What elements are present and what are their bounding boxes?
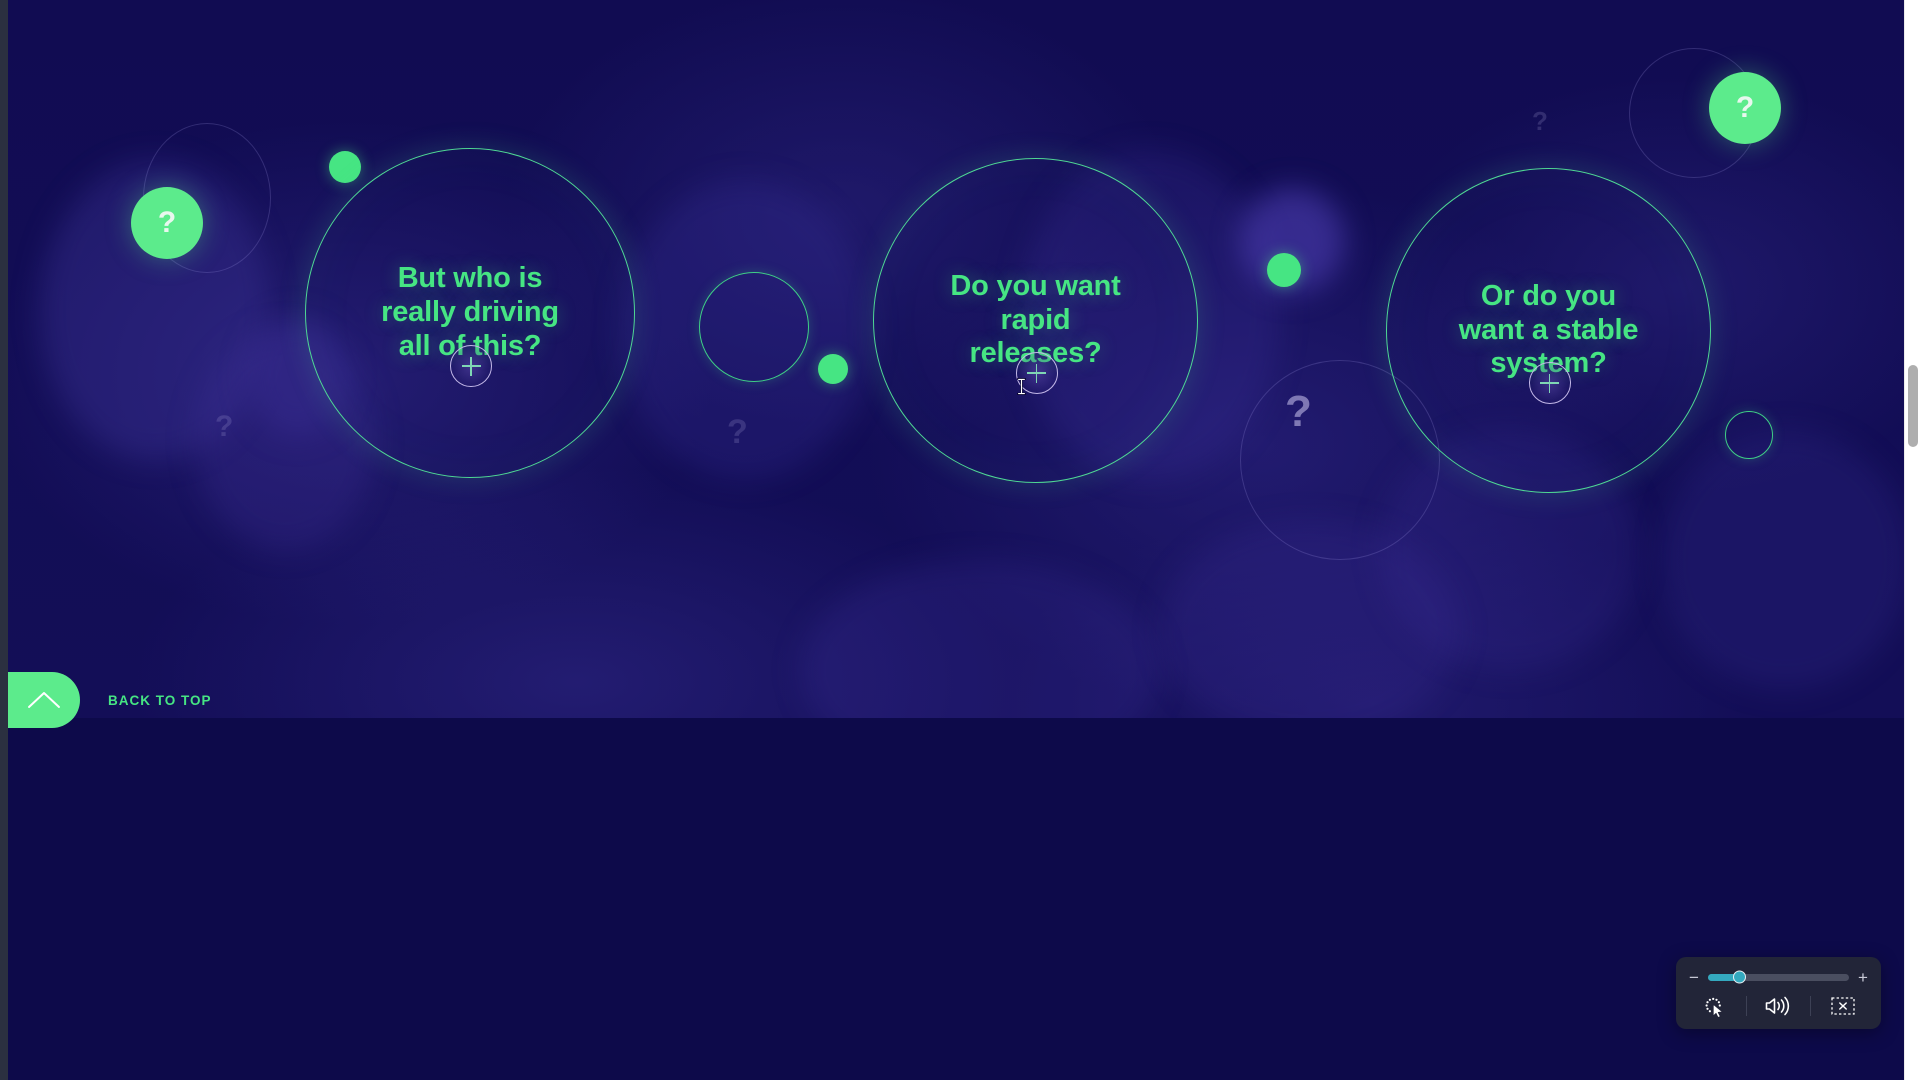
background-blob xyxy=(800,560,1160,718)
decorative-question-mark: ? xyxy=(1532,108,1548,134)
background-blob xyxy=(1160,520,1460,718)
bubble-rapid-releases[interactable]: Do you want rapid releases? xyxy=(873,158,1198,483)
q-badge-right[interactable]: ? xyxy=(1709,72,1781,144)
increase-button[interactable]: + xyxy=(1857,969,1869,986)
cursor-highlight-icon xyxy=(1702,994,1726,1018)
back-to-top[interactable]: BACK TO TOP xyxy=(8,672,212,728)
volume-icon xyxy=(1765,995,1791,1017)
bubble-who-is-driving[interactable]: But who is really driving all of this? xyxy=(305,148,635,478)
close-box-icon xyxy=(1830,995,1856,1017)
bubble-expand-button[interactable] xyxy=(1016,352,1058,394)
back-to-top-label[interactable]: BACK TO TOP xyxy=(108,693,212,708)
divider xyxy=(1746,996,1747,1016)
bubble-expand-button[interactable] xyxy=(1529,362,1571,404)
close-widget-button[interactable] xyxy=(1822,993,1864,1019)
page-lower-area xyxy=(8,718,1904,1080)
decorative-green-dot xyxy=(1267,253,1301,287)
bubble-stable-system[interactable]: Or do you want a stable system? xyxy=(1386,168,1711,493)
decorative-green-dot xyxy=(818,354,848,384)
decorative-green-ring xyxy=(699,272,809,382)
browser-chrome-strip xyxy=(0,0,8,1080)
divider xyxy=(1810,996,1811,1016)
q-badge-left[interactable]: ? xyxy=(131,187,203,259)
page-viewport: ???? ?? But who is really driving all of… xyxy=(0,0,1920,1080)
vertical-scrollbar[interactable] xyxy=(1904,0,1920,1080)
cursor-highlight-button[interactable] xyxy=(1693,993,1735,1019)
scrollbar-thumb[interactable] xyxy=(1908,365,1918,447)
decrease-button[interactable]: − xyxy=(1688,969,1700,986)
decorative-green-dot xyxy=(329,151,361,183)
volume-button[interactable] xyxy=(1757,993,1799,1019)
control-icon-row xyxy=(1688,991,1869,1021)
back-to-top-button[interactable] xyxy=(8,672,80,728)
slider-knob[interactable] xyxy=(1733,971,1746,984)
decorative-question-mark: ? xyxy=(215,412,233,442)
decorative-question-mark: ? xyxy=(1285,390,1312,434)
slider-track[interactable] xyxy=(1708,974,1849,981)
zoom-slider-row: − + xyxy=(1688,967,1869,987)
hero-section: ???? ?? But who is really driving all of… xyxy=(8,0,1904,718)
decorative-question-mark: ? xyxy=(727,415,748,449)
chevron-up-icon xyxy=(27,690,61,710)
accessibility-control-widget[interactable]: − + xyxy=(1676,957,1881,1029)
background-blob xyxy=(1660,430,1904,690)
bubble-expand-button[interactable] xyxy=(450,345,492,387)
decorative-green-ring xyxy=(1725,411,1773,459)
